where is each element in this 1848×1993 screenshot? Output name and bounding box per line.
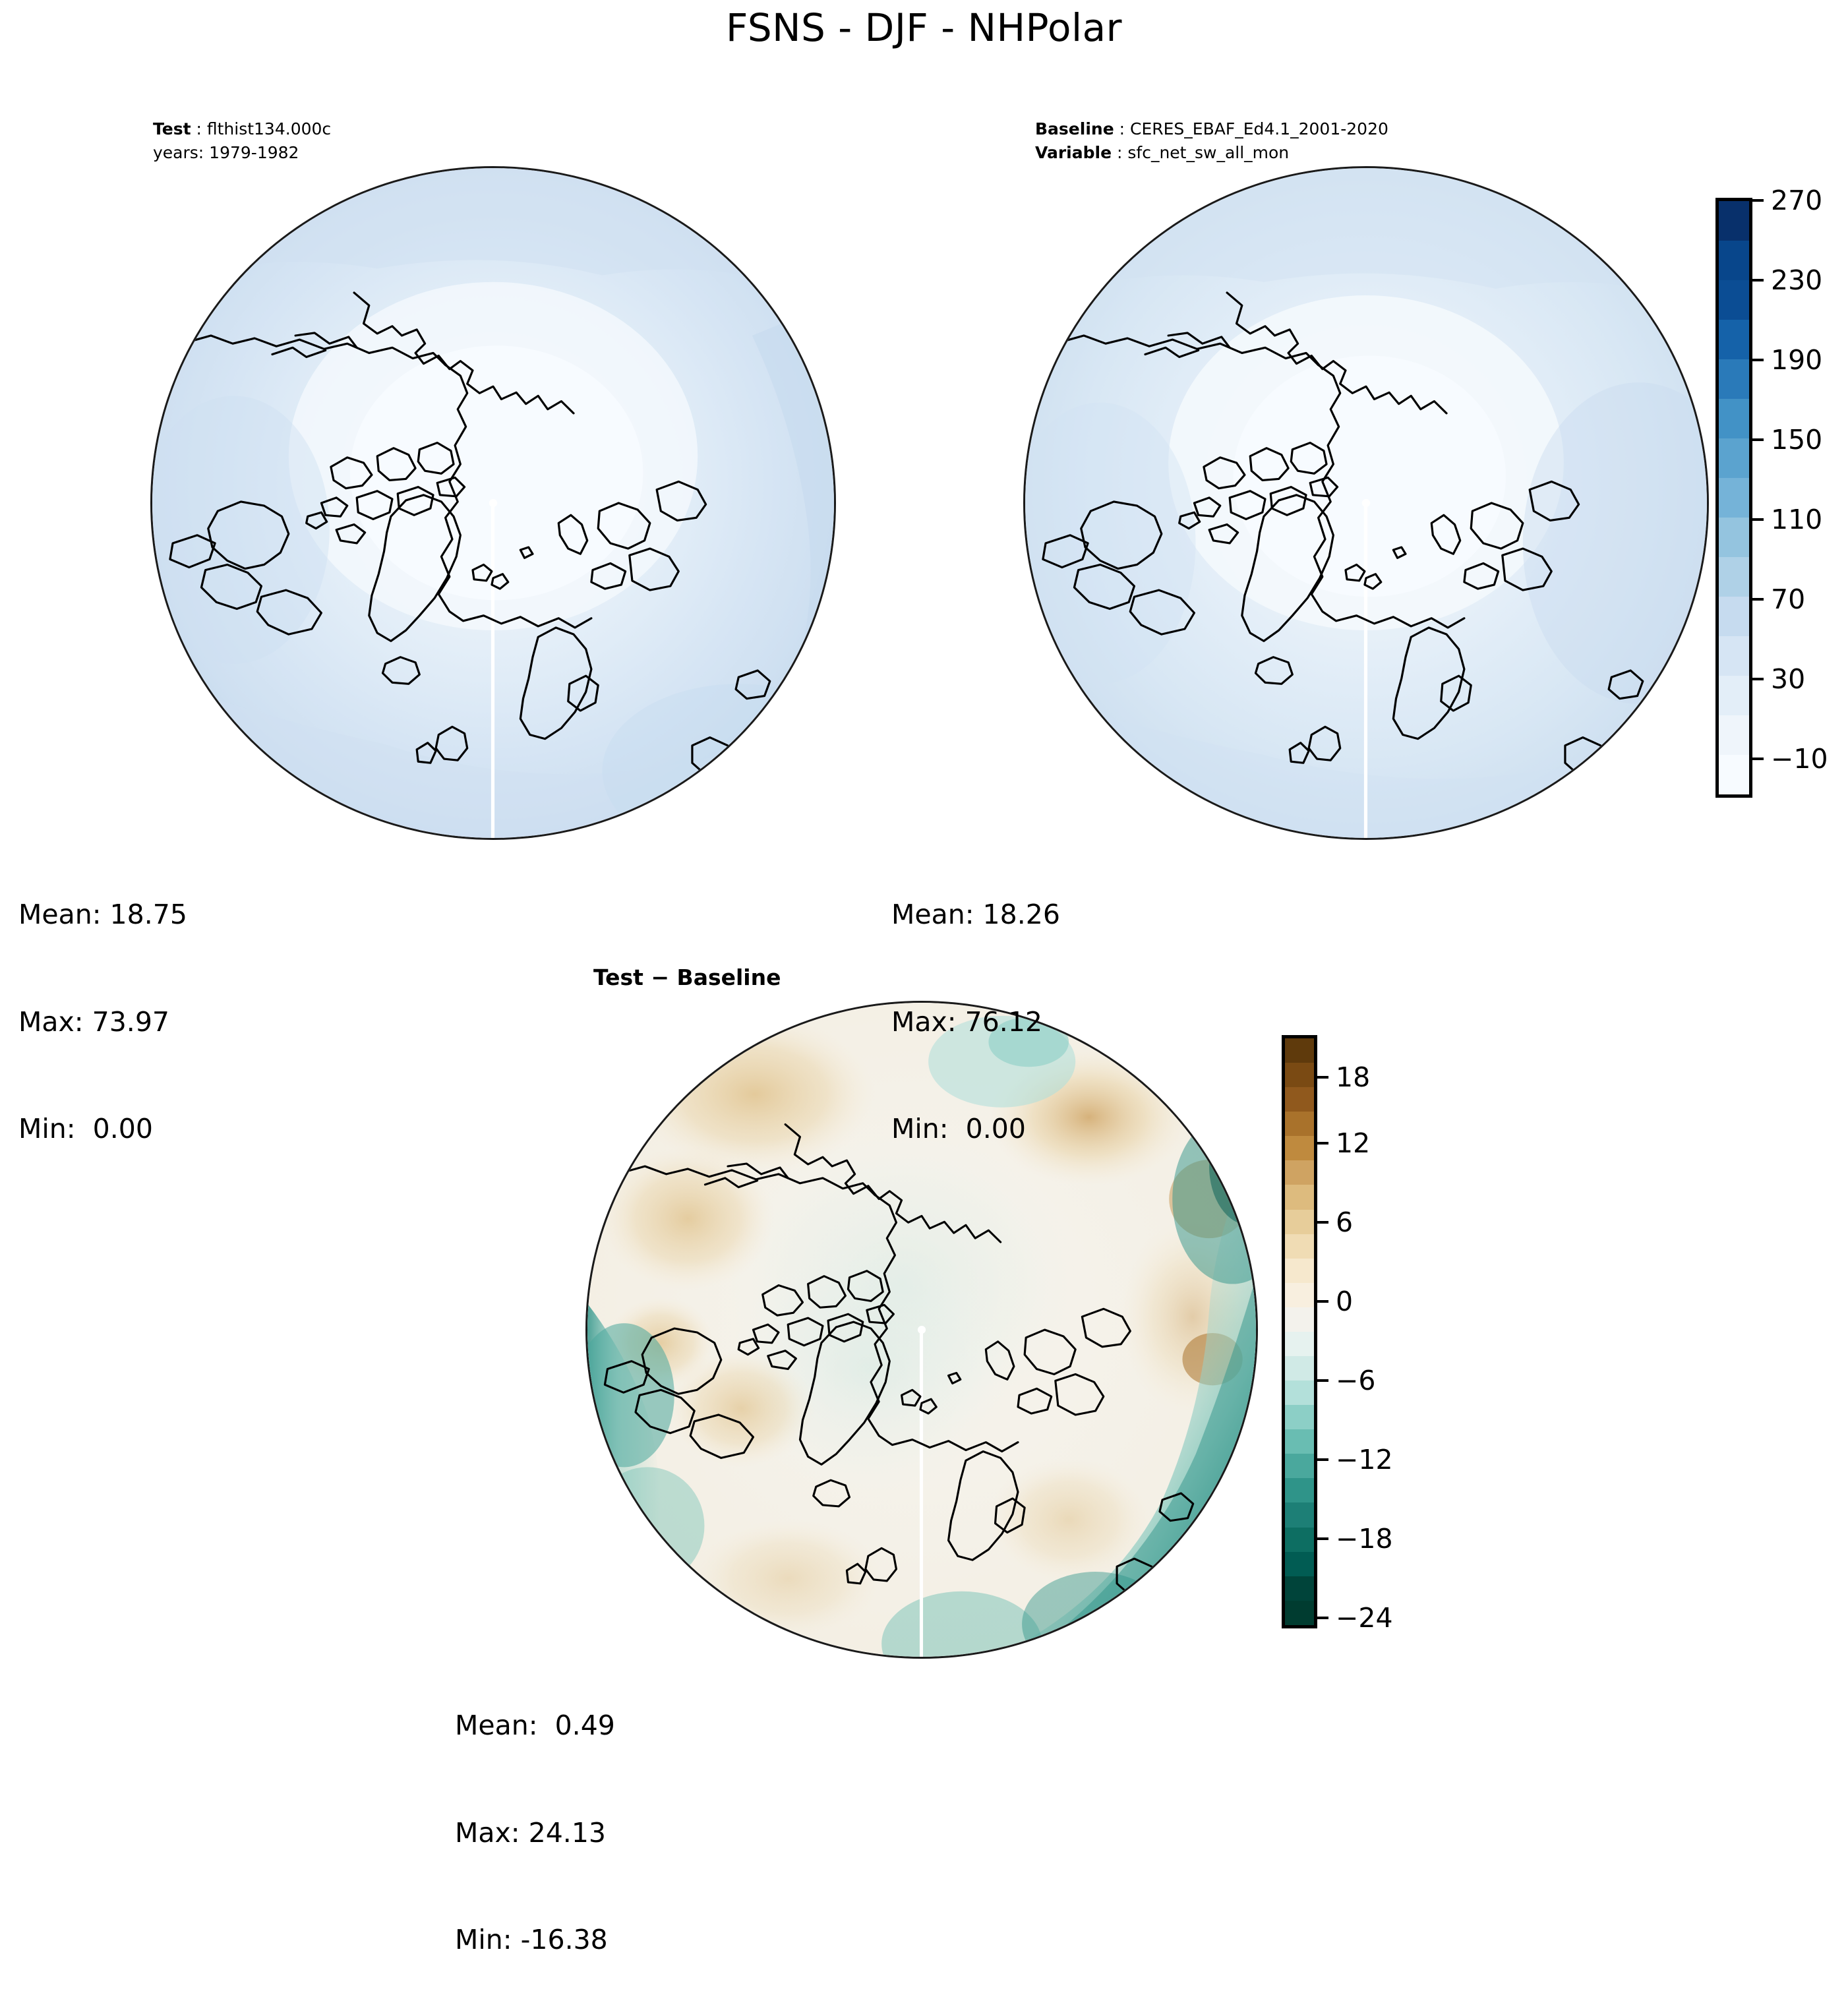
tick-dash-190 xyxy=(1752,359,1764,361)
tick-label-30: 30 xyxy=(1771,663,1805,695)
colorbar-band-9 xyxy=(1719,557,1749,597)
baseline-stat-mean: Mean: 18.26 xyxy=(891,897,1060,932)
colorbar-band-3 xyxy=(1285,1112,1314,1136)
tick-dash-150 xyxy=(1752,438,1764,441)
baseline-panel-meta: Baseline : CERES_EBAF_Ed4.1_2001-2020 Va… xyxy=(1035,117,1388,164)
figure-title: FSNS - DJF - NHPolar xyxy=(0,5,1848,50)
tick-dash-270 xyxy=(1752,199,1764,202)
test-stat-mean: Mean: 18.75 xyxy=(18,897,187,932)
colorbar-band-5 xyxy=(1285,1160,1314,1185)
colorbar-band-15 xyxy=(1285,1405,1314,1429)
tick-label-150: 150 xyxy=(1771,424,1822,456)
colorbar-band-3 xyxy=(1719,320,1749,359)
baseline-meta-line-2: Variable : sfc_net_sw_all_mon xyxy=(1035,141,1388,165)
test-meta-years: years: 1979-1982 xyxy=(153,141,331,165)
colorbar-band-22 xyxy=(1285,1576,1314,1601)
baseline-meta-sep-2: : xyxy=(1112,143,1127,162)
colorbar-band-7 xyxy=(1285,1210,1314,1234)
colorbar-band-4 xyxy=(1285,1136,1314,1160)
colorbar-band-20 xyxy=(1285,1528,1314,1552)
colorbar-band-8 xyxy=(1285,1234,1314,1259)
colorbar-band-18 xyxy=(1285,1478,1314,1502)
test-meta-label: Test xyxy=(153,119,191,138)
diff-tick-dash-minus6 xyxy=(1317,1379,1328,1382)
tick-label-110: 110 xyxy=(1771,504,1822,535)
diff-tick-dash-12 xyxy=(1317,1142,1328,1145)
main-colorbar[interactable] xyxy=(1715,198,1752,798)
diff-tick-label-18: 18 xyxy=(1336,1061,1370,1093)
test-meta-sep: : xyxy=(191,119,207,138)
tick-dash-30 xyxy=(1752,678,1764,680)
test-statistics: Mean: 18.75 Max: 73.97 Min: 0.00 xyxy=(18,825,187,1182)
diff-tick-dash-minus24 xyxy=(1317,1617,1328,1619)
colorbar-band-0 xyxy=(1719,201,1749,241)
colorbar-band-10 xyxy=(1719,597,1749,636)
diff-tick-label-0: 0 xyxy=(1336,1286,1353,1317)
baseline-meta-label: Baseline xyxy=(1035,119,1114,138)
colorbar-band-7 xyxy=(1719,478,1749,518)
tick-dash-minus10 xyxy=(1752,758,1764,760)
baseline-meta-sep-1: : xyxy=(1114,119,1130,138)
colorbar-band-21 xyxy=(1285,1552,1314,1576)
diff-stat-max: Max: 24.13 xyxy=(455,1815,615,1851)
colorbar-band-10 xyxy=(1285,1283,1314,1307)
diff-tick-dash-6 xyxy=(1317,1221,1328,1224)
main-colorbar-ticks: 270 230 190 150 110 70 30 −10 xyxy=(1752,198,1848,798)
baseline-stat-max: Max: 76.12 xyxy=(891,1004,1060,1040)
baseline-meta-value: CERES_EBAF_Ed4.1_2001-2020 xyxy=(1130,119,1388,138)
colorbar-band-5 xyxy=(1719,399,1749,438)
diff-tick-dash-18 xyxy=(1317,1076,1328,1079)
test-meta-value: flthist134.000c xyxy=(207,119,331,138)
tick-dash-110 xyxy=(1752,518,1764,521)
diff-tick-dash-0 xyxy=(1317,1300,1328,1303)
diff-tick-label-6: 6 xyxy=(1336,1206,1353,1238)
test-polar-map xyxy=(150,166,836,840)
colorbar-band-19 xyxy=(1285,1502,1314,1527)
colorbar-band-1 xyxy=(1285,1063,1314,1087)
diff-stat-min: Min: -16.38 xyxy=(455,1922,615,1957)
tick-label-230: 230 xyxy=(1771,264,1822,296)
difference-statistics: Mean: 0.49 Max: 24.13 Min: -16.38 xyxy=(455,1636,615,1993)
colorbar-band-12 xyxy=(1285,1332,1314,1356)
colorbar-band-12 xyxy=(1719,676,1749,715)
tick-dash-70 xyxy=(1752,598,1764,601)
diff-tick-label-minus24: −24 xyxy=(1336,1602,1393,1634)
colorbar-band-2 xyxy=(1285,1087,1314,1112)
colorbar-band-8 xyxy=(1719,518,1749,557)
test-stat-max: Max: 73.97 xyxy=(18,1004,187,1040)
colorbar-band-4 xyxy=(1719,359,1749,399)
test-panel-meta: Test : flthist134.000c years: 1979-1982 xyxy=(153,117,331,164)
colorbar-band-17 xyxy=(1285,1454,1314,1478)
colorbar-band-0 xyxy=(1285,1038,1314,1063)
colorbar-band-1 xyxy=(1719,241,1749,280)
colorbar-band-11 xyxy=(1285,1307,1314,1332)
difference-colorbar[interactable] xyxy=(1282,1035,1317,1628)
diff-tick-label-12: 12 xyxy=(1336,1127,1370,1159)
colorbar-band-14 xyxy=(1285,1381,1314,1405)
diff-tick-label-minus12: −12 xyxy=(1336,1444,1393,1475)
colorbar-band-16 xyxy=(1285,1429,1314,1454)
colorbar-band-6 xyxy=(1285,1185,1314,1209)
variable-meta-value: sfc_net_sw_all_mon xyxy=(1127,143,1289,162)
diff-stat-mean: Mean: 0.49 xyxy=(455,1708,615,1743)
tick-label-190: 190 xyxy=(1771,344,1822,376)
test-stat-min: Min: 0.00 xyxy=(18,1111,187,1146)
diff-tick-label-minus6: −6 xyxy=(1336,1365,1375,1396)
baseline-stat-min: Min: 0.00 xyxy=(891,1111,1060,1146)
colorbar-band-6 xyxy=(1719,438,1749,478)
tick-label-70: 70 xyxy=(1771,583,1805,615)
tick-label-minus10: −10 xyxy=(1771,743,1828,775)
test-meta-line-1: Test : flthist134.000c xyxy=(153,117,331,141)
colorbar-band-9 xyxy=(1285,1259,1314,1283)
tick-label-270: 270 xyxy=(1771,185,1822,216)
diff-tick-label-minus18: −18 xyxy=(1336,1523,1393,1555)
baseline-meta-line-1: Baseline : CERES_EBAF_Ed4.1_2001-2020 xyxy=(1035,117,1388,141)
difference-panel-title: Test − Baseline xyxy=(593,965,781,990)
diff-tick-dash-minus12 xyxy=(1317,1458,1328,1461)
colorbar-band-11 xyxy=(1719,636,1749,676)
diff-tick-dash-minus18 xyxy=(1317,1537,1328,1540)
baseline-polar-map xyxy=(1023,166,1709,840)
colorbar-band-23 xyxy=(1285,1601,1314,1625)
variable-meta-label: Variable xyxy=(1035,143,1112,162)
colorbar-band-14 xyxy=(1719,755,1749,794)
baseline-statistics: Mean: 18.26 Max: 76.12 Min: 0.00 xyxy=(891,825,1060,1182)
difference-colorbar-ticks: 18 12 6 0 −6 −12 −18 −24 xyxy=(1317,1035,1449,1628)
tick-dash-230 xyxy=(1752,279,1764,282)
colorbar-band-13 xyxy=(1285,1356,1314,1381)
colorbar-band-13 xyxy=(1719,715,1749,755)
colorbar-band-2 xyxy=(1719,280,1749,320)
